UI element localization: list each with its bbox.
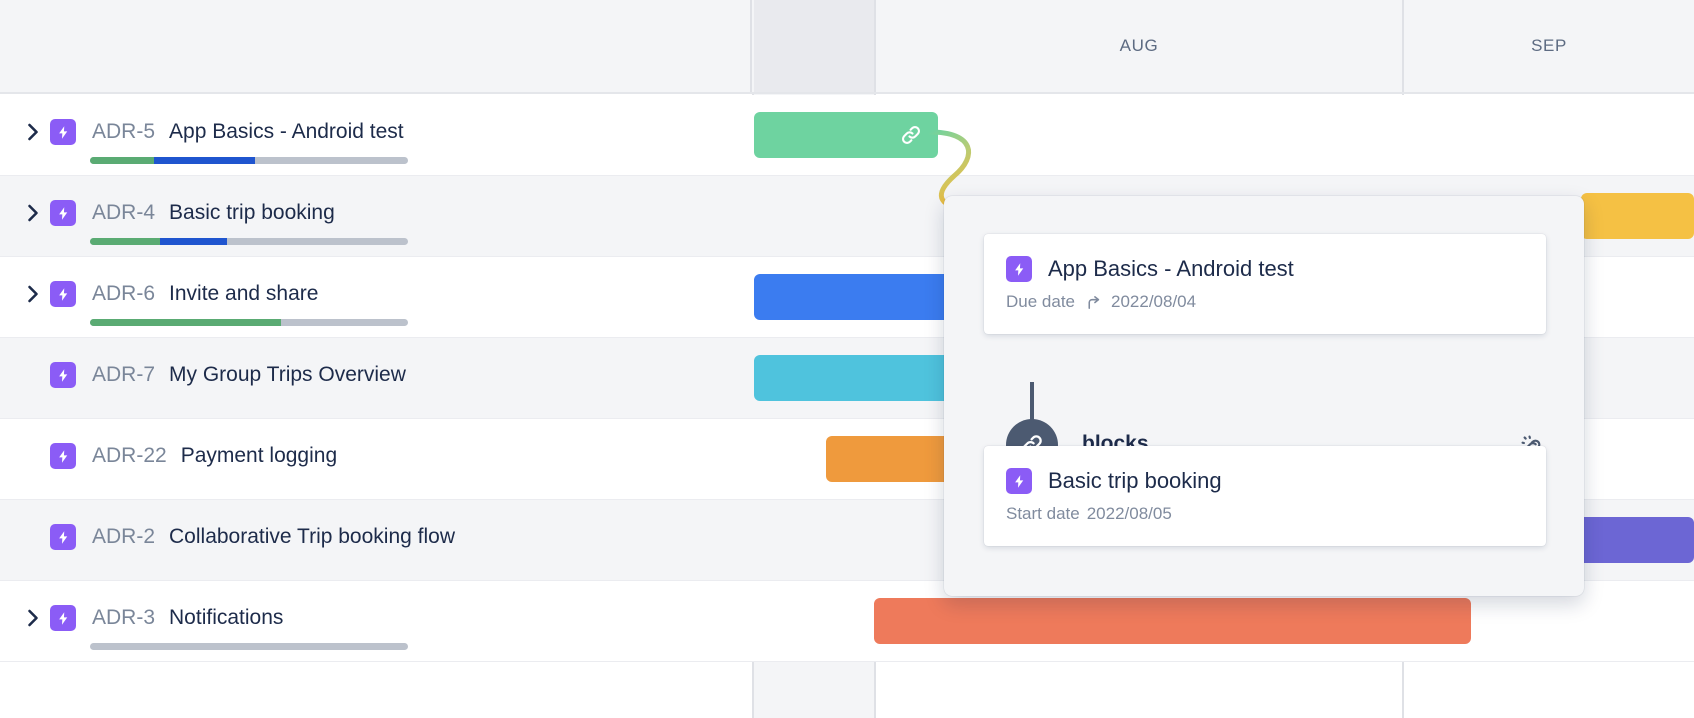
progress-segment-done bbox=[90, 238, 160, 245]
progress-segment-done bbox=[90, 319, 281, 326]
progress-segment-inprogress bbox=[154, 157, 256, 164]
popup-target-title-row: Basic trip booking bbox=[1006, 468, 1522, 494]
progress-bar bbox=[90, 643, 408, 650]
popup-source-meta-label: Due date bbox=[1006, 292, 1075, 312]
epic-lightning-icon bbox=[1006, 256, 1032, 282]
issue-summary[interactable]: App Basics - Android test bbox=[169, 120, 404, 144]
popup-target-meta-label: Start date bbox=[1006, 504, 1080, 524]
issue-key[interactable]: ADR-2 bbox=[92, 525, 155, 549]
popup-source-title: App Basics - Android test bbox=[1048, 256, 1294, 282]
epic-lightning-icon bbox=[50, 605, 76, 631]
dependency-popup: App Basics - Android test Due date 2022/… bbox=[944, 196, 1584, 596]
row-label-group: ADR-7My Group Trips Overview bbox=[22, 360, 406, 390]
epic-lightning-icon bbox=[50, 524, 76, 550]
row-left-pane: ADR-22Payment logging bbox=[0, 419, 752, 499]
table-row[interactable]: ADR-5App Basics - Android test bbox=[0, 95, 1694, 176]
epic-lightning-icon bbox=[50, 200, 76, 226]
month-label-aug: AUG bbox=[1120, 36, 1159, 56]
row-label-group: ADR-22Payment logging bbox=[22, 441, 337, 471]
timeline-view: AUG SEP ADR-5App Basics - Android testAD… bbox=[0, 0, 1694, 718]
row-left-pane: ADR-4Basic trip booking bbox=[0, 176, 752, 256]
popup-target-meta: Start date 2022/08/05 bbox=[1006, 504, 1522, 524]
epic-lightning-icon bbox=[50, 443, 76, 469]
header-weekend-band bbox=[754, 0, 874, 92]
issue-key[interactable]: ADR-6 bbox=[92, 282, 155, 306]
popup-target-meta-value: 2022/08/05 bbox=[1087, 504, 1172, 524]
chevron-right-icon[interactable] bbox=[22, 607, 44, 629]
popup-target-title: Basic trip booking bbox=[1048, 468, 1222, 494]
row-left-pane: ADR-7My Group Trips Overview bbox=[0, 338, 752, 418]
row-label-group: ADR-2Collaborative Trip booking flow bbox=[22, 522, 455, 552]
issue-key[interactable]: ADR-22 bbox=[92, 444, 167, 468]
row-label-group: ADR-4Basic trip booking bbox=[22, 198, 335, 228]
popup-target-card[interactable]: Basic trip booking Start date 2022/08/05 bbox=[984, 446, 1546, 546]
timeline-bar[interactable] bbox=[874, 598, 1471, 644]
issue-summary[interactable]: Collaborative Trip booking flow bbox=[169, 525, 455, 549]
month-label-sep: SEP bbox=[1531, 36, 1567, 56]
progress-bar bbox=[90, 157, 408, 164]
row-label-group: ADR-6Invite and share bbox=[22, 279, 318, 309]
row-left-pane: ADR-2Collaborative Trip booking flow bbox=[0, 500, 752, 580]
row-left-pane: ADR-3Notifications bbox=[0, 581, 752, 661]
epic-lightning-icon bbox=[50, 281, 76, 307]
issue-summary[interactable]: Basic trip booking bbox=[169, 201, 335, 225]
issue-key[interactable]: ADR-4 bbox=[92, 201, 155, 225]
timeline-bar[interactable] bbox=[754, 112, 938, 158]
progress-bar bbox=[90, 319, 408, 326]
month-column-sep: SEP bbox=[1402, 0, 1694, 92]
chevron-right-icon[interactable] bbox=[22, 202, 44, 224]
header-left-pane bbox=[0, 0, 752, 92]
timeline-header: AUG SEP bbox=[0, 0, 1694, 94]
arrow-curve-right-icon bbox=[1085, 294, 1102, 311]
month-column-aug: AUG bbox=[874, 0, 1402, 92]
chevron-right-icon[interactable] bbox=[22, 283, 44, 305]
popup-source-meta: Due date 2022/08/04 bbox=[1006, 292, 1522, 312]
popup-source-card[interactable]: App Basics - Android test Due date 2022/… bbox=[984, 234, 1546, 334]
issue-summary[interactable]: Notifications bbox=[169, 606, 283, 630]
epic-lightning-icon bbox=[50, 119, 76, 145]
issue-summary[interactable]: Invite and share bbox=[169, 282, 318, 306]
timeline-bar[interactable] bbox=[754, 355, 967, 401]
timeline-bar[interactable] bbox=[1581, 193, 1694, 239]
epic-lightning-icon bbox=[1006, 468, 1032, 494]
popup-source-meta-value: 2022/08/04 bbox=[1111, 292, 1196, 312]
row-label-group: ADR-3Notifications bbox=[22, 603, 283, 633]
link-icon[interactable] bbox=[898, 122, 924, 148]
issue-key[interactable]: ADR-7 bbox=[92, 363, 155, 387]
epic-lightning-icon bbox=[50, 362, 76, 388]
chevron-right-icon[interactable] bbox=[22, 121, 44, 143]
issue-key[interactable]: ADR-5 bbox=[92, 120, 155, 144]
progress-segment-inprogress bbox=[160, 238, 227, 245]
issue-key[interactable]: ADR-3 bbox=[92, 606, 155, 630]
progress-segment-done bbox=[90, 157, 154, 164]
progress-bar bbox=[90, 238, 408, 245]
row-label-group: ADR-5App Basics - Android test bbox=[22, 117, 404, 147]
issue-summary[interactable]: Payment logging bbox=[181, 444, 337, 468]
row-left-pane: ADR-6Invite and share bbox=[0, 257, 752, 337]
popup-source-title-row: App Basics - Android test bbox=[1006, 256, 1522, 282]
timeline-bar[interactable] bbox=[754, 274, 967, 320]
issue-summary[interactable]: My Group Trips Overview bbox=[169, 363, 406, 387]
row-left-pane: ADR-5App Basics - Android test bbox=[0, 95, 752, 175]
